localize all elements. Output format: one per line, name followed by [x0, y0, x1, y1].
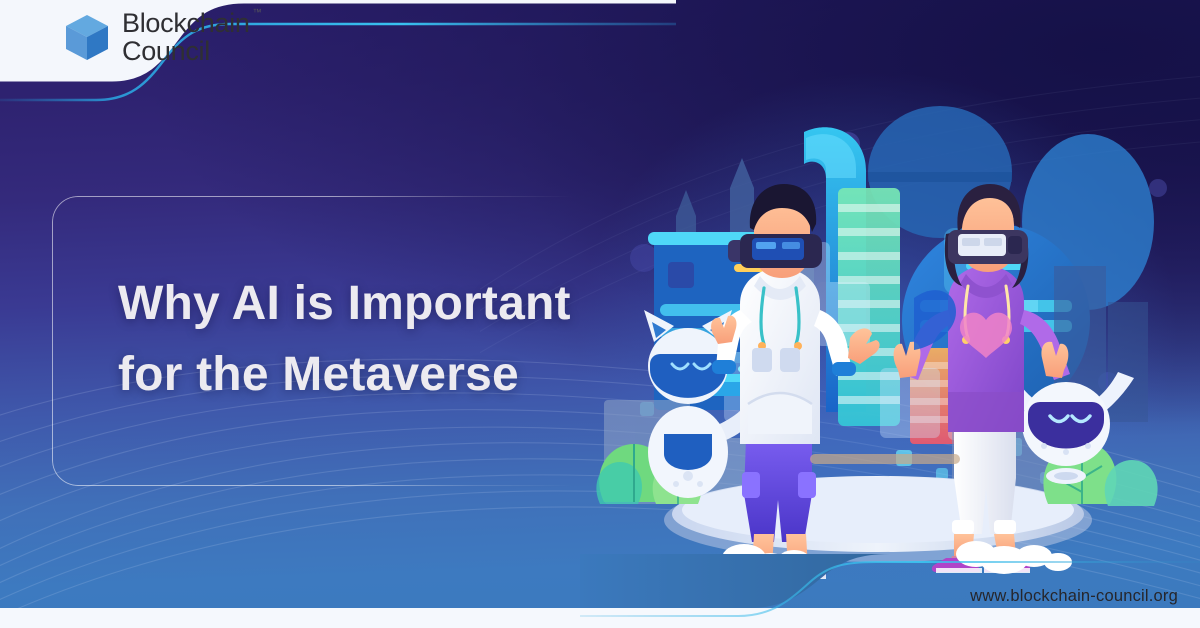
trademark-symbol: ™	[253, 8, 262, 17]
site-url[interactable]: www.blockchain-council.org	[970, 587, 1178, 606]
bench	[810, 454, 960, 464]
brand-wordmark: Blockchain Council ™	[122, 10, 250, 65]
blockchain-cube-icon	[64, 14, 110, 62]
brand-line2: Council	[122, 38, 250, 66]
metaverse-vr-city-illustration	[548, 52, 1200, 582]
brand-line1: Blockchain	[122, 10, 250, 38]
brand-logo[interactable]: Blockchain Council ™	[64, 10, 250, 65]
banner-root: Blockchain Council ™ Why AI is Important…	[0, 0, 1200, 628]
